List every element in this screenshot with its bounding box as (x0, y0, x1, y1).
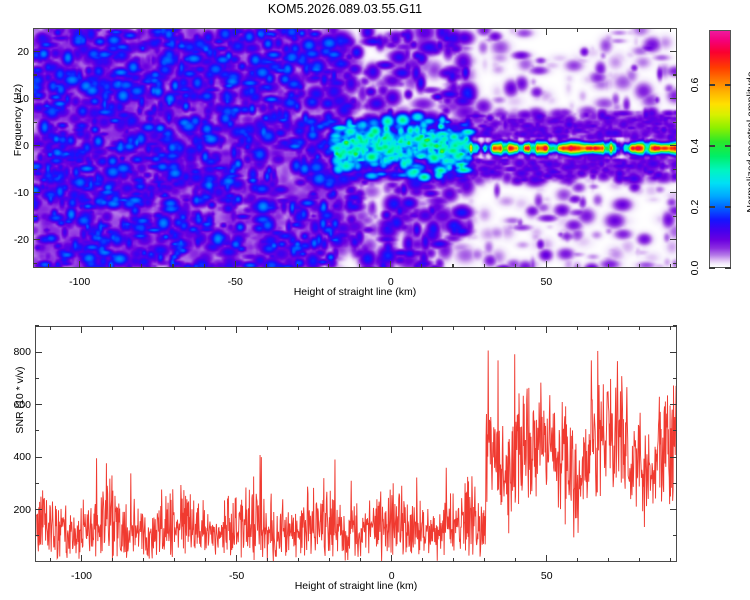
snr-ylabel: SNR (10 * v/v) (14, 300, 26, 500)
axis-tick (48, 28, 49, 32)
axis-tick (112, 326, 113, 330)
axis-tick (235, 28, 236, 35)
axis-tick (359, 264, 360, 268)
axis-tick (50, 326, 51, 330)
colorbar-tick (709, 145, 715, 146)
axis-tick (35, 509, 42, 510)
axis-tick (670, 457, 677, 458)
axis-tick (484, 264, 485, 268)
axis-tick (515, 264, 516, 268)
axis-tick (35, 352, 42, 353)
axis-tick (205, 326, 206, 330)
axis-tick (328, 264, 329, 268)
figure-title: KOM5.2026.089.03.55.G11 (0, 2, 690, 16)
spectrogram-xlabel: Height of straight line (km) (33, 286, 677, 298)
axis-tick (35, 325, 39, 326)
colorbar-tick (709, 206, 715, 207)
spectrogram-image (34, 29, 677, 268)
axis-tick (608, 326, 609, 330)
axis-tick (112, 558, 113, 562)
colorbar-ticks: 0.00.20.40.6 (709, 30, 731, 268)
axis-tick (328, 28, 329, 32)
colorbar-tick-label: 0.2 (689, 195, 701, 219)
colorbar-tick (709, 84, 715, 85)
axis-tick (50, 558, 51, 562)
figure-root: KOM5.2026.089.03.55.G11 -100-50050-20-10… (0, 0, 750, 600)
axis-tick (204, 28, 205, 32)
axis-tick (673, 263, 677, 264)
colorbar-tick (725, 145, 731, 146)
colorbar-tick (725, 267, 731, 268)
axis-tick (673, 216, 677, 217)
axis-tick (515, 558, 516, 562)
axis-tick (35, 483, 39, 484)
axis-tick (670, 239, 677, 240)
axis-tick (670, 404, 677, 405)
axis-tick (577, 326, 578, 330)
axis-tick (33, 74, 37, 75)
colorbar-tick-label: 0.4 (689, 134, 701, 158)
axis-tick (546, 28, 547, 35)
axis-tick (484, 28, 485, 32)
colorbar-tick (709, 267, 715, 268)
axis-tick (546, 555, 547, 562)
axis-tick (359, 28, 360, 32)
colorbar-tick-label: 0.0 (689, 256, 701, 280)
axis-tick (297, 264, 298, 268)
axis-tick (35, 457, 42, 458)
axis-tick (33, 216, 37, 217)
axis-tick (143, 326, 144, 330)
axis-tick (608, 264, 609, 268)
axis-tick (329, 326, 330, 330)
axis-tick (670, 51, 677, 52)
axis-tick (35, 378, 39, 379)
axis-tick (673, 378, 677, 379)
axis-tick (546, 326, 547, 333)
axis-tick (673, 74, 677, 75)
spectrogram-ylabel: Frequency (Hz) (12, 30, 24, 210)
axis-tick (670, 558, 671, 562)
axis-tick (673, 430, 677, 431)
axis-tick (515, 28, 516, 32)
axis-tick (79, 261, 80, 268)
y-tick-label: 200 (1, 504, 31, 516)
axis-tick (35, 535, 39, 536)
axis-tick (33, 169, 37, 170)
axis-tick (390, 261, 391, 268)
axis-tick (484, 326, 485, 330)
axis-tick (422, 326, 423, 330)
axis-tick (110, 28, 111, 32)
axis-tick (577, 558, 578, 562)
colorbar-wrap: 0.00.20.40.6 (709, 30, 731, 268)
axis-tick (298, 326, 299, 330)
axis-tick (421, 264, 422, 268)
axis-tick (81, 555, 82, 562)
axis-tick (329, 558, 330, 562)
axis-tick (673, 325, 677, 326)
axis-tick (670, 326, 671, 330)
axis-tick (143, 558, 144, 562)
axis-tick (33, 122, 37, 123)
axis-tick (390, 28, 391, 35)
axis-tick (673, 169, 677, 170)
axis-tick (267, 558, 268, 562)
axis-tick (48, 264, 49, 268)
spectrogram-plot-area (33, 28, 677, 268)
axis-tick (205, 558, 206, 562)
axis-tick (484, 558, 485, 562)
snr-polyline (36, 351, 677, 562)
axis-tick (639, 558, 640, 562)
axis-tick (33, 51, 40, 52)
axis-tick (422, 558, 423, 562)
axis-tick (673, 535, 677, 536)
axis-tick (360, 558, 361, 562)
axis-tick (236, 326, 237, 333)
snr-plot-area (35, 326, 677, 562)
axis-tick (33, 239, 40, 240)
axis-tick (298, 558, 299, 562)
axis-tick (670, 192, 677, 193)
axis-tick (639, 326, 640, 330)
axis-tick (639, 264, 640, 268)
axis-tick (35, 404, 42, 405)
axis-tick (670, 145, 677, 146)
axis-tick (608, 558, 609, 562)
axis-tick (266, 264, 267, 268)
axis-tick (452, 264, 453, 268)
axis-tick (172, 28, 173, 32)
axis-tick (33, 192, 40, 193)
axis-tick (546, 261, 547, 268)
axis-tick (391, 326, 392, 333)
axis-tick (673, 483, 677, 484)
axis-tick (141, 264, 142, 268)
colorbar-tick-label: 0.6 (689, 73, 701, 97)
axis-tick (172, 264, 173, 268)
axis-tick (391, 555, 392, 562)
axis-tick (608, 28, 609, 32)
axis-tick (174, 326, 175, 330)
axis-tick (297, 28, 298, 32)
axis-tick (33, 145, 40, 146)
axis-tick (453, 326, 454, 330)
axis-tick (235, 261, 236, 268)
axis-tick (204, 264, 205, 268)
snr-xlabel: Height of straight line (km) (35, 580, 677, 592)
axis-tick (577, 28, 578, 32)
axis-tick (639, 28, 640, 32)
y-tick-label: -20 (0, 234, 29, 246)
axis-tick (79, 28, 80, 35)
axis-tick (673, 122, 677, 123)
axis-tick (670, 28, 671, 32)
axis-tick (266, 28, 267, 32)
axis-tick (267, 326, 268, 330)
axis-tick (81, 326, 82, 333)
axis-tick (174, 558, 175, 562)
colorbar-tick (725, 84, 731, 85)
axis-tick (421, 28, 422, 32)
axis-tick (453, 558, 454, 562)
colorbar-label: Normalized spectral amplitude (745, 22, 750, 262)
axis-tick (33, 98, 40, 99)
axis-tick (110, 264, 111, 268)
axis-tick (452, 28, 453, 32)
axis-tick (33, 263, 37, 264)
axis-tick (670, 352, 677, 353)
axis-tick (360, 326, 361, 330)
axis-tick (141, 28, 142, 32)
axis-tick (515, 326, 516, 330)
axis-tick (577, 264, 578, 268)
snr-trace (36, 327, 677, 562)
axis-tick (670, 264, 671, 268)
axis-tick (670, 98, 677, 99)
axis-tick (236, 555, 237, 562)
axis-tick (35, 430, 39, 431)
axis-tick (670, 509, 677, 510)
colorbar-tick (725, 206, 731, 207)
